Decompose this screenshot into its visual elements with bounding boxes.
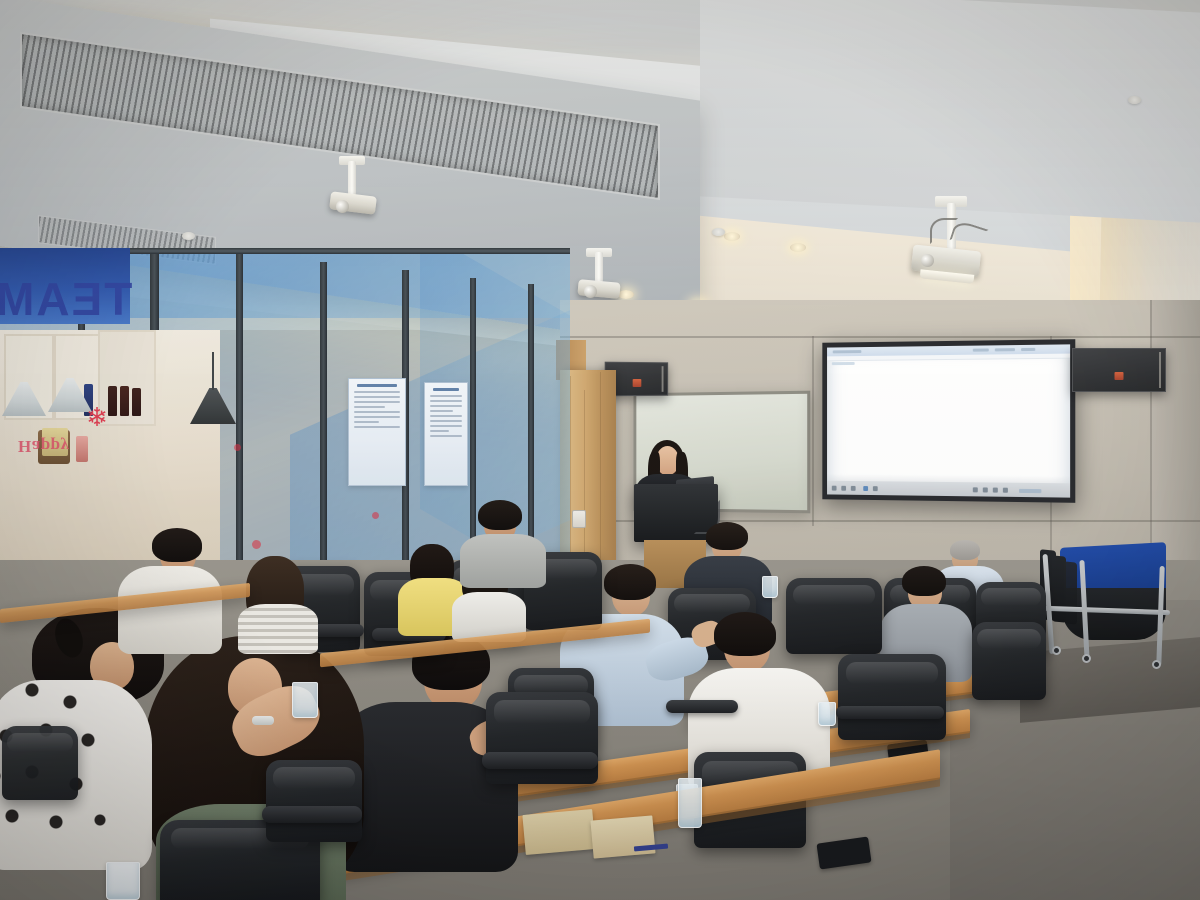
screen-title-text	[833, 350, 862, 353]
water-glass	[106, 862, 140, 900]
attendee-grey-polo-hair	[902, 566, 946, 596]
bottle	[120, 386, 129, 416]
attendee-grey-shirt-torso	[460, 534, 546, 588]
wall-seam	[812, 336, 814, 526]
projection-screen[interactable]	[822, 339, 1075, 503]
team-signage-text: TEAM	[0, 272, 132, 326]
cafe-happy-text: Happy	[18, 436, 70, 456]
poster-right	[424, 382, 468, 486]
handout-sheet	[590, 815, 655, 858]
chair[interactable]	[2, 726, 78, 800]
attendee-white-shirt-torso	[118, 566, 222, 654]
downlight	[724, 232, 740, 241]
attendee-back-blue-hair	[950, 540, 980, 560]
downlight	[618, 290, 634, 299]
attendee-white-shirt-hair	[152, 528, 202, 562]
cart-wheel	[1152, 660, 1161, 669]
projector-lens-icon	[584, 285, 597, 298]
attendee-navy-tee-hair	[706, 522, 748, 550]
conference-room-photo: TEAM Happy ❄	[0, 0, 1200, 900]
speaker-badge-icon	[1115, 372, 1124, 380]
speaker-right	[1072, 348, 1166, 392]
attendee-striped-torso	[238, 604, 318, 654]
projector-lens-icon	[921, 254, 934, 267]
screen-doc-line	[832, 362, 855, 365]
chair-armrest	[666, 700, 738, 713]
projector-pole	[595, 252, 603, 282]
attendee-white-polo-hair	[714, 612, 776, 656]
screen-menu-chip	[973, 348, 989, 351]
screen-menu-chip	[1021, 348, 1035, 351]
wristwatch	[252, 716, 274, 725]
projector-lens-icon	[336, 200, 349, 213]
projector-pole	[348, 161, 356, 195]
projection-screen-surface	[827, 344, 1070, 497]
cart-wheel	[1082, 654, 1091, 663]
cafe-item	[76, 436, 88, 462]
bottle	[132, 388, 141, 416]
water-glass	[818, 702, 836, 726]
chair[interactable]	[266, 760, 362, 842]
chair[interactable]	[786, 578, 882, 654]
ceiling-panel-right	[700, 0, 1200, 224]
wall-seam	[560, 336, 1200, 338]
water-glass	[678, 778, 702, 828]
chair[interactable]	[838, 654, 946, 740]
snowflake-decoration-icon: ❄	[84, 404, 110, 430]
smoke-detector-icon	[182, 232, 195, 240]
smoke-detector-icon	[1128, 96, 1141, 104]
poster-left	[348, 378, 406, 486]
attendee-grey-shirt-hair	[478, 500, 522, 530]
cart-wheel	[1052, 646, 1061, 655]
notebook-folder	[522, 809, 595, 855]
downlight	[790, 243, 806, 252]
chair[interactable]	[486, 692, 598, 784]
chair-armrest	[262, 806, 362, 823]
light-switch[interactable]	[572, 510, 586, 528]
screen-menu-chip	[995, 348, 1015, 351]
chair[interactable]	[972, 622, 1046, 700]
chair-armrest	[482, 752, 598, 769]
chair-armrest	[836, 706, 944, 719]
speaker-badge-icon	[633, 379, 642, 387]
pendant-cord	[212, 352, 214, 390]
water-glass	[762, 576, 778, 598]
water-glass	[292, 682, 318, 718]
smoke-detector-icon	[712, 228, 725, 236]
screen-taskbar	[827, 481, 1070, 498]
attendee-blue-shirt-hair	[604, 564, 656, 600]
cart-chair-folded	[1064, 561, 1077, 624]
